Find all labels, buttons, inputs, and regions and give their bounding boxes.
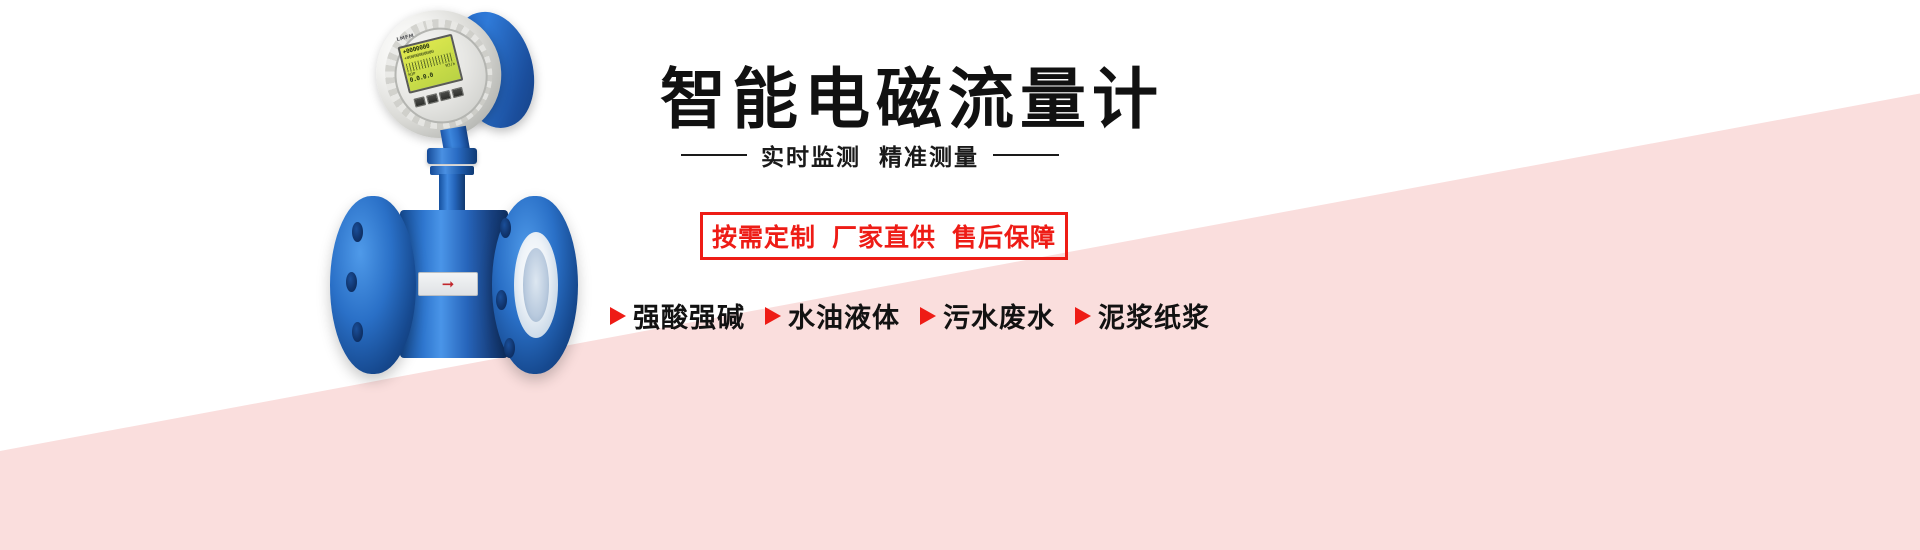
- feature-item: 污水废水: [920, 296, 1055, 335]
- feature-item: 强酸强碱: [610, 296, 745, 335]
- triangle-right-icon: [765, 307, 781, 325]
- horizontal-rule-icon-right: [993, 154, 1059, 156]
- subtitle-right: 精准测量: [879, 145, 979, 171]
- subtitle-row: 实时监测精准测量: [660, 138, 1080, 172]
- product-banner: LMFM +0000000 +00000000000 M3P M3/h 0.0.…: [0, 0, 1920, 550]
- banner-content: 智能电磁流量计 实时监测精准测量 按需定制厂家直供售后保障 强酸强碱 水油液体 …: [0, 0, 1920, 550]
- triangle-right-icon: [920, 307, 936, 325]
- highlight-item-2: 厂家直供: [832, 223, 936, 252]
- highlight-item-1: 按需定制: [712, 223, 816, 252]
- highlight-box-text: 按需定制厂家直供售后保障: [712, 218, 1056, 254]
- triangle-right-icon: [610, 307, 626, 325]
- feature-label: 强酸强碱: [633, 296, 745, 335]
- feature-label: 泥浆纸浆: [1098, 296, 1210, 335]
- feature-list: 强酸强碱 水油液体 污水废水 泥浆纸浆: [610, 296, 1210, 335]
- subtitle-left: 实时监测: [761, 145, 861, 171]
- page-title: 智能电磁流量计: [660, 46, 1164, 142]
- highlight-item-3: 售后保障: [952, 223, 1056, 252]
- feature-item: 水油液体: [765, 296, 900, 335]
- feature-label: 污水废水: [943, 296, 1055, 335]
- feature-label: 水油液体: [788, 296, 900, 335]
- highlight-box: 按需定制厂家直供售后保障: [700, 212, 1068, 260]
- horizontal-rule-icon-left: [681, 154, 747, 156]
- triangle-right-icon: [1075, 307, 1091, 325]
- feature-item: 泥浆纸浆: [1075, 296, 1210, 335]
- subtitle-text: 实时监测精准测量: [761, 138, 979, 172]
